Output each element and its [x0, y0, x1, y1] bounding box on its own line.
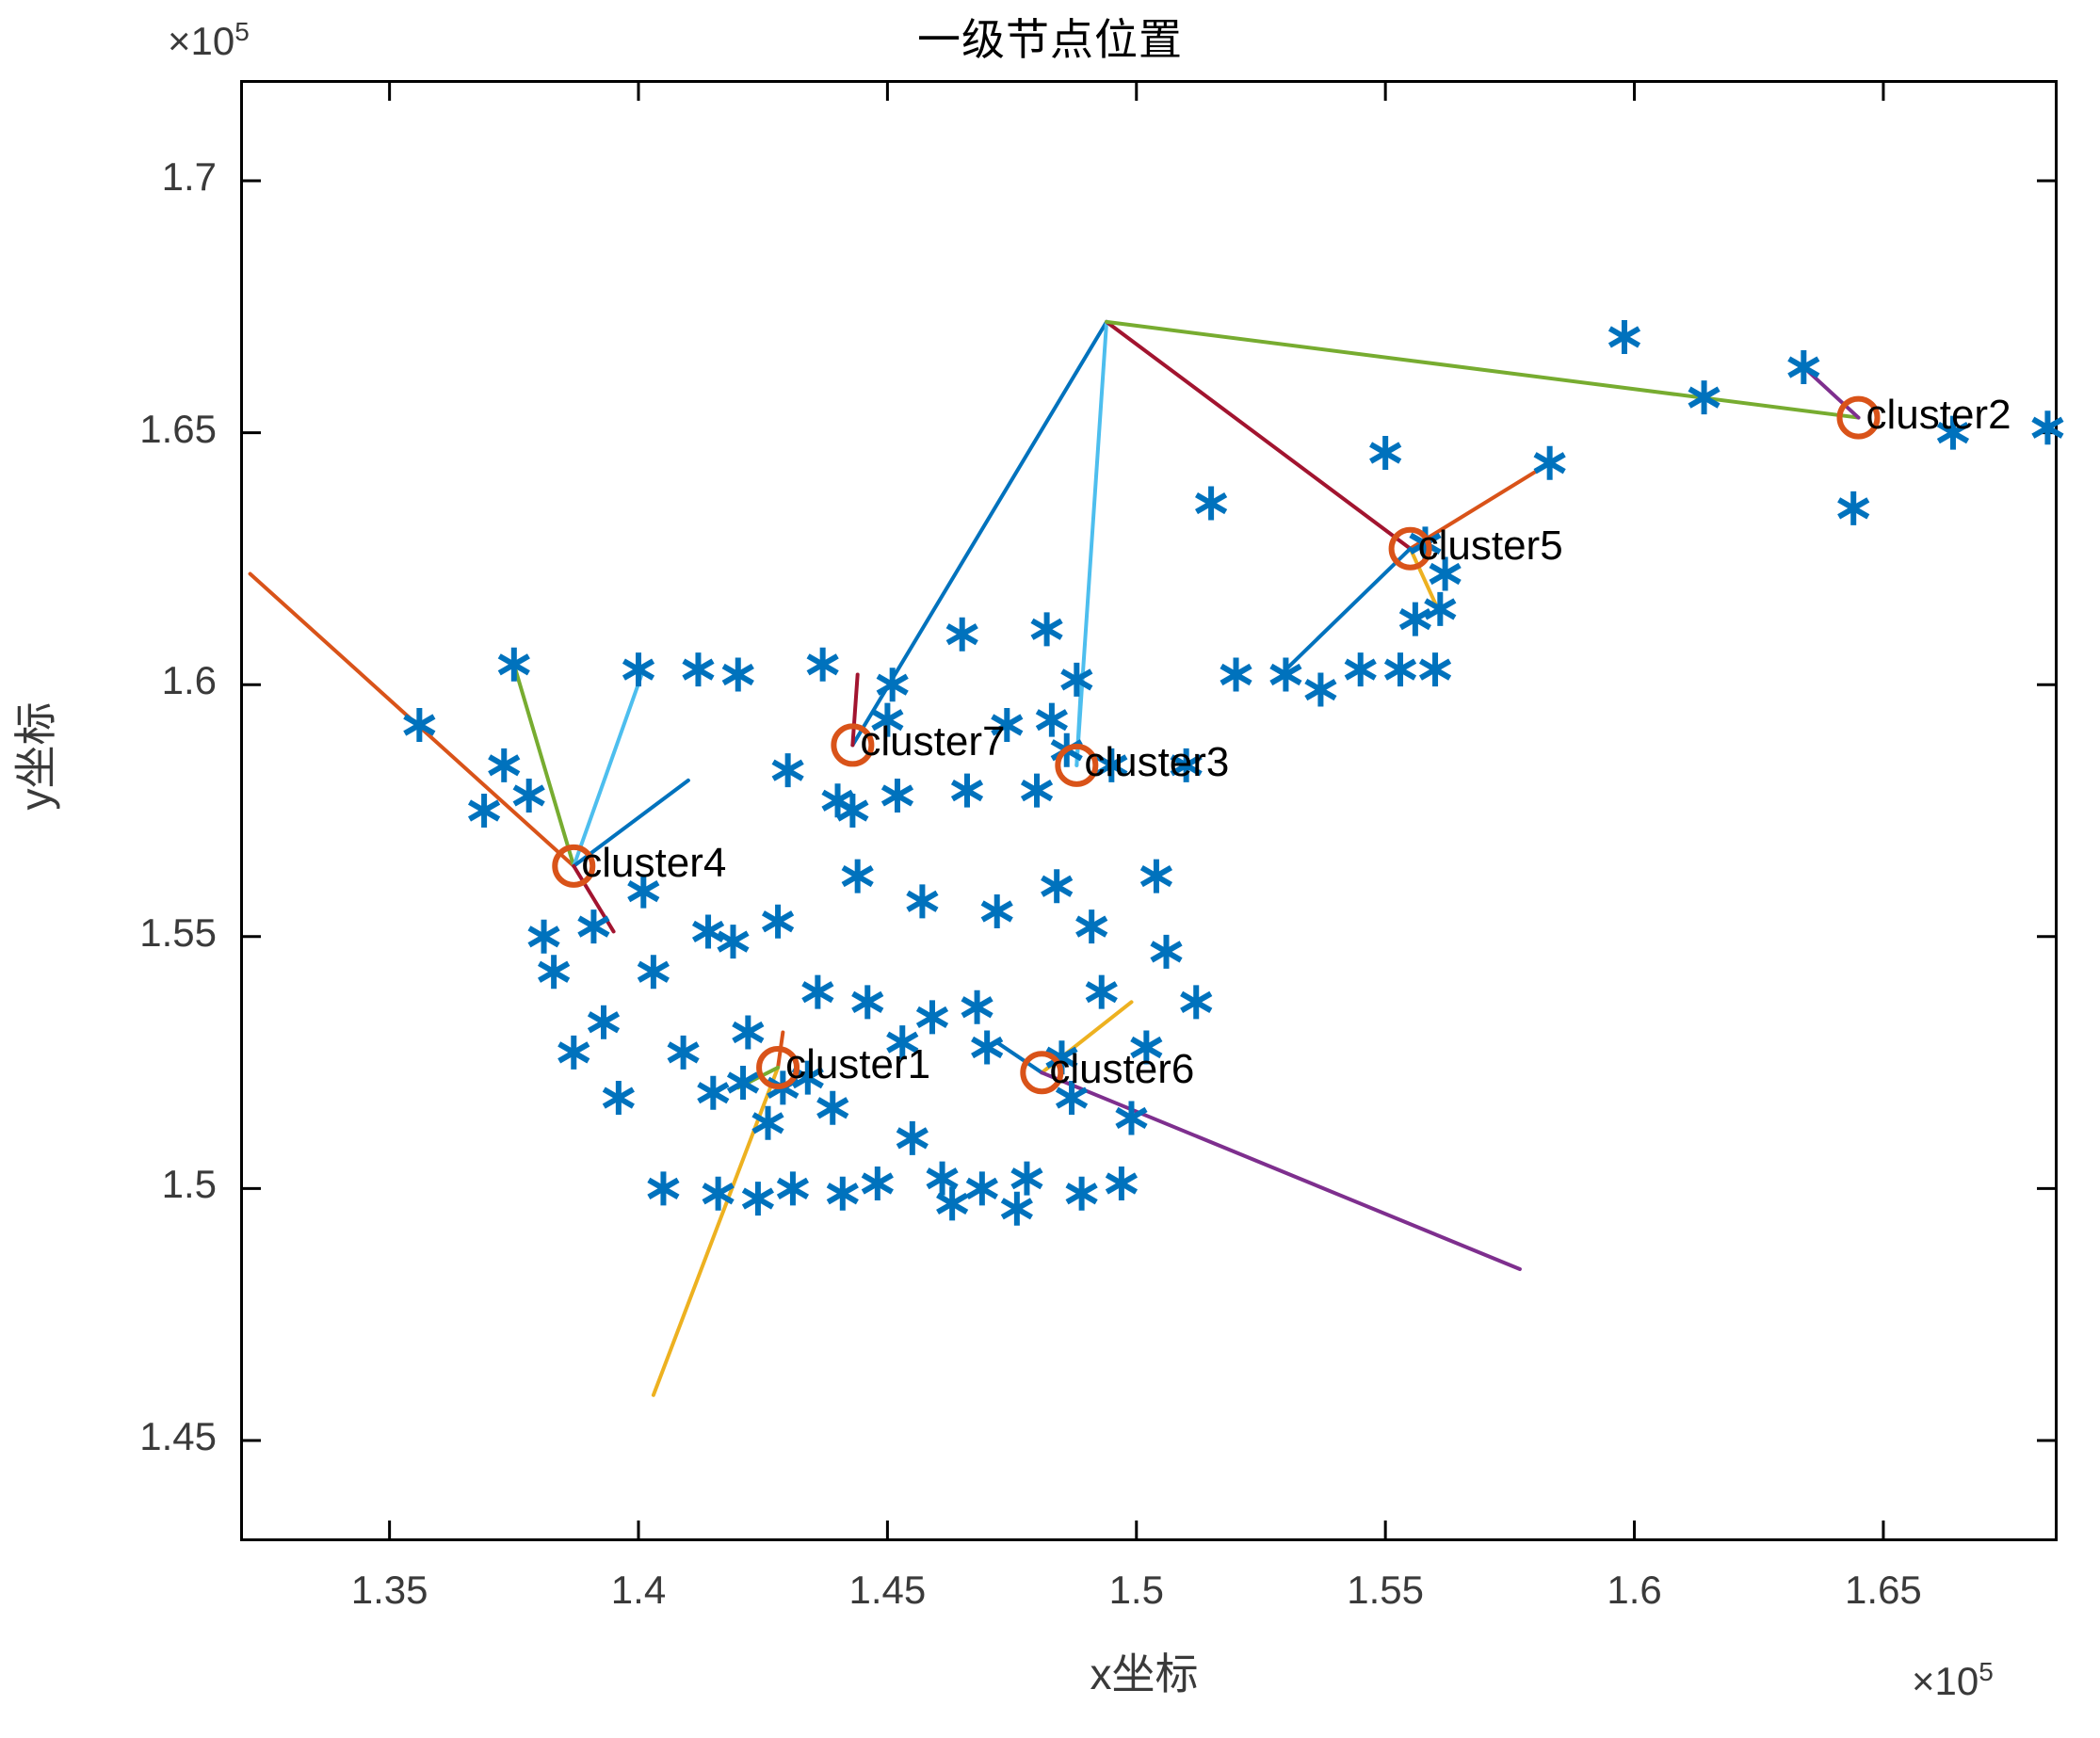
cluster-label-cluster1: cluster1 [785, 1041, 930, 1088]
cluster-label-cluster5: cluster5 [1418, 523, 1563, 570]
cluster-label-cluster4: cluster4 [581, 840, 726, 887]
x-axis-label: x坐标 [956, 1640, 1333, 1702]
x-tick-label: 1.65 [1789, 1568, 1978, 1613]
x-tick-label: 1.4 [544, 1568, 733, 1613]
x-tick-label: 1.35 [296, 1568, 484, 1613]
y-tick-label: 1.7 [75, 154, 217, 200]
y-axis-label: y坐标 [2, 634, 64, 878]
x-tick-label: 1.5 [1042, 1568, 1231, 1613]
cluster-label-cluster7: cluster7 [860, 718, 1005, 765]
y-tick-label: 1.6 [75, 658, 217, 703]
chart-title: 一级节点位置 [0, 6, 2100, 68]
y-exponent-value: 5 [234, 17, 250, 46]
plot-area [240, 80, 2058, 1541]
x-exponent-value: 5 [1979, 1657, 1994, 1686]
y-tick-label: 1.65 [75, 407, 217, 452]
x-exponent-prefix: ×10 [1912, 1659, 1979, 1703]
y-axis-exponent: ×105 [168, 17, 250, 64]
y-tick-label: 1.5 [75, 1162, 217, 1207]
y-tick-label: 1.45 [75, 1414, 217, 1459]
x-tick-label: 1.6 [1541, 1568, 1729, 1613]
y-tick-label: 1.55 [75, 910, 217, 956]
x-tick-label: 1.45 [793, 1568, 981, 1613]
cluster-label-cluster3: cluster3 [1084, 739, 1229, 786]
x-axis-exponent: ×105 [1912, 1657, 1994, 1704]
cluster-label-cluster6: cluster6 [1049, 1046, 1194, 1093]
x-tick-label: 1.55 [1291, 1568, 1479, 1613]
y-exponent-prefix: ×10 [168, 19, 234, 63]
figure-canvas: 一级节点位置 ×105 ×105 y坐标 x坐标 1.71.651.61.551… [0, 0, 2100, 1738]
cluster-label-cluster2: cluster2 [1866, 392, 2011, 439]
